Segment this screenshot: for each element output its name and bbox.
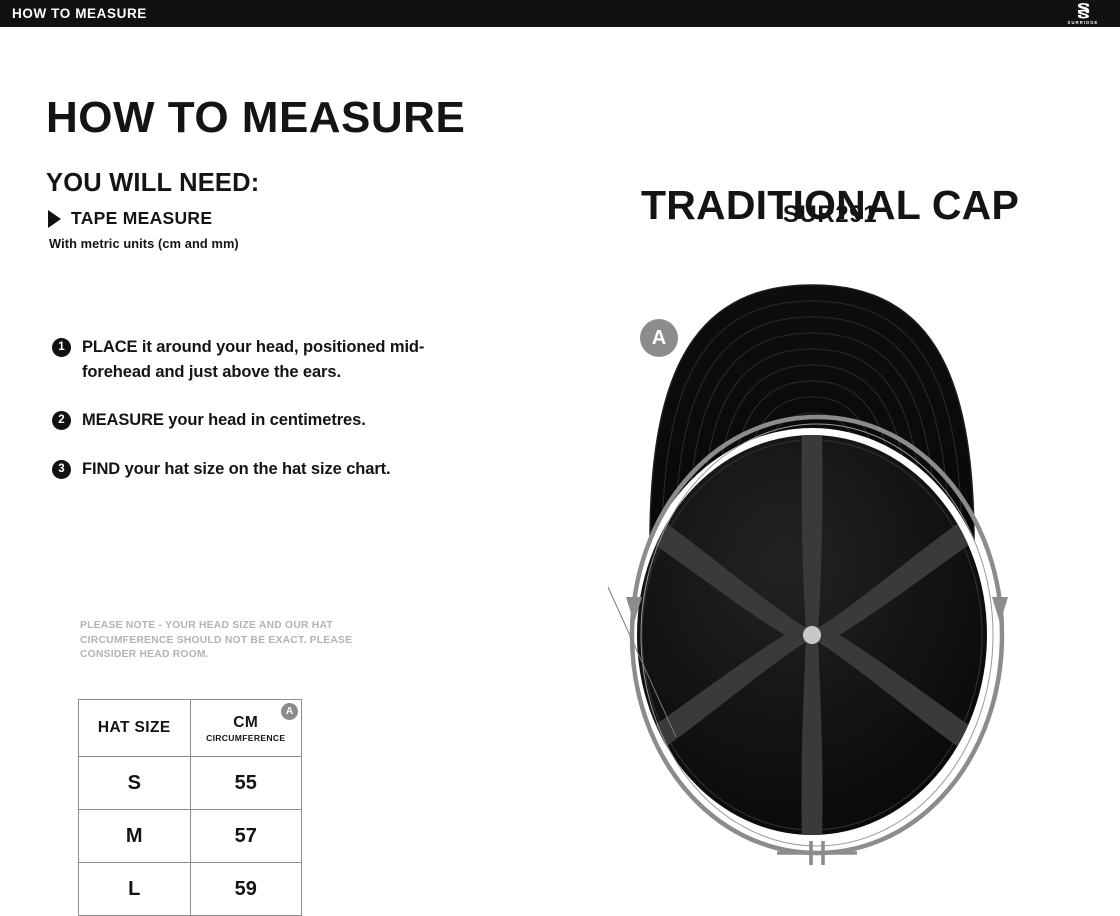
step-text: PLACE it around your head, positioned mi…: [82, 338, 424, 381]
product-code: SUR291: [540, 201, 1120, 229]
brand-logo: SURRIDGE: [1060, 1, 1106, 26]
page-title: HOW TO MEASURE: [46, 94, 465, 142]
cell-cm: 57: [190, 810, 302, 863]
callout-badge-a: A: [640, 319, 678, 357]
table-row: S 55: [79, 757, 302, 810]
you-will-need-heading: YOU WILL NEED:: [46, 169, 259, 198]
hat-size-table: HAT SIZE CM CIRCUMFERENCE A S 55 M 57 L …: [78, 699, 302, 916]
product-diagram-panel: TRADITIONAL CAP SUR291: [540, 27, 1120, 883]
measure-arrow-right-icon: [992, 597, 1008, 623]
cell-hat-size: S: [79, 757, 191, 810]
app-header-bar: HOW TO MEASURE SURRIDGE: [0, 0, 1120, 27]
disclaimer-note: PLEASE NOTE - YOUR HEAD SIZE AND OUR HAT…: [80, 619, 400, 663]
crown-center-button-icon: [803, 626, 821, 644]
cell-cm: 59: [190, 863, 302, 916]
column-header-sub: CIRCUMFERENCE: [192, 733, 301, 743]
list-item: 2 MEASURE your head in centimetres.: [52, 408, 452, 433]
tool-sublabel: With metric units (cm and mm): [49, 236, 239, 251]
cell-hat-size: M: [79, 810, 191, 863]
header-title: HOW TO MEASURE: [12, 6, 147, 21]
step-number-badge: 3: [52, 460, 71, 479]
table-row: L 59: [79, 863, 302, 916]
instructions-panel: HOW TO MEASURE YOU WILL NEED: TAPE MEASU…: [0, 27, 540, 883]
list-item: 3 FIND your hat size on the hat size cha…: [52, 457, 452, 482]
tool-label: TAPE MEASURE: [71, 208, 212, 229]
triangle-bullet-icon: [48, 210, 61, 228]
cell-cm: 55: [190, 757, 302, 810]
column-header-main: HAT SIZE: [80, 719, 189, 737]
column-header-cm-circumference: CM CIRCUMFERENCE A: [190, 700, 302, 757]
step-text: FIND your hat size on the hat size chart…: [82, 460, 391, 478]
column-header-hat-size: HAT SIZE: [79, 700, 191, 757]
cap-crown-group: [630, 428, 994, 842]
step-number-badge: 2: [52, 411, 71, 430]
measurement-badge-a: A: [281, 703, 298, 720]
surridge-s-logo-icon: [1076, 2, 1091, 19]
tool-requirement-row: TAPE MEASURE: [48, 208, 212, 229]
cell-hat-size: L: [79, 863, 191, 916]
table-row: M 57: [79, 810, 302, 863]
brand-wordmark: SURRIDGE: [1068, 20, 1099, 25]
list-item: 1 PLACE it around your head, positioned …: [52, 335, 452, 384]
step-number-badge: 1: [52, 338, 71, 357]
step-text: MEASURE your head in centimetres.: [82, 411, 366, 429]
table-header-row: HAT SIZE CM CIRCUMFERENCE A: [79, 700, 302, 757]
steps-list: 1 PLACE it around your head, positioned …: [52, 335, 452, 505]
traditional-cap-diagram-icon: [480, 267, 1120, 877]
